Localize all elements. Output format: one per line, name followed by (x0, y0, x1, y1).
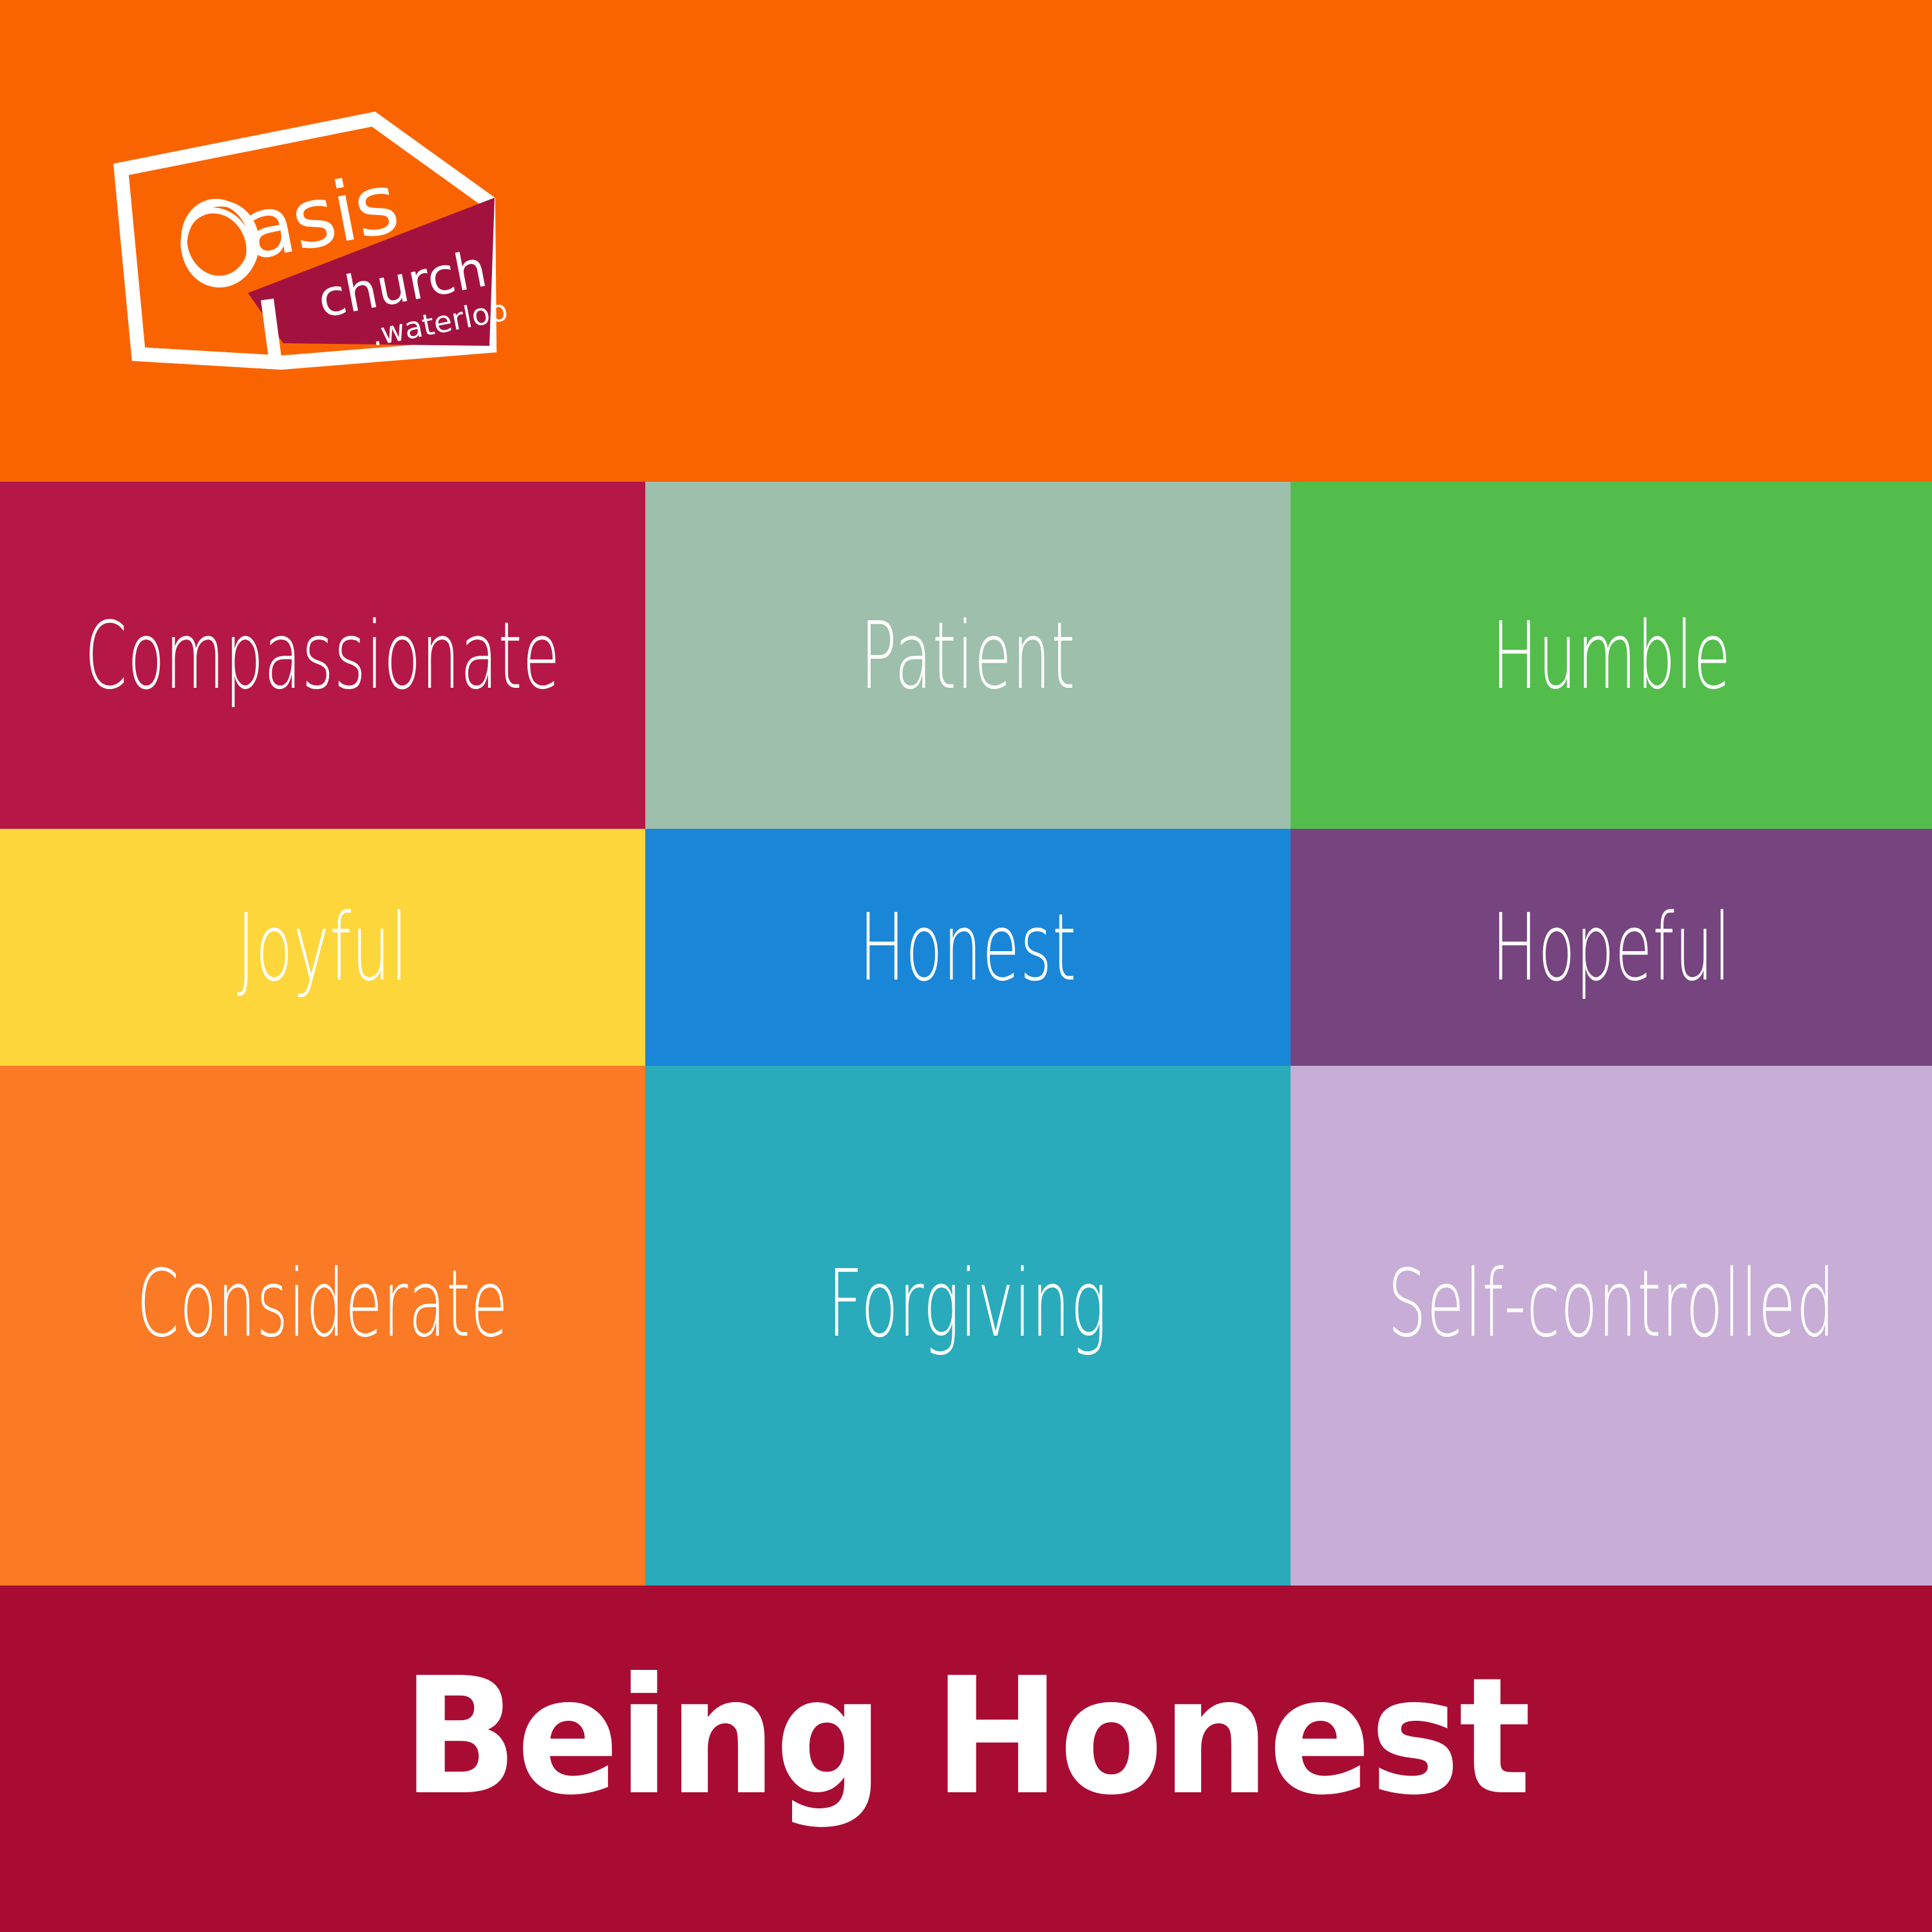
grid-cell-label: Patient (860, 609, 1075, 702)
grid-cell-joyful[interactable]: Joyful (0, 829, 645, 1066)
grid-cell-label: Hopeful (1492, 901, 1731, 994)
grid-cell-label: Self-controlled (1388, 1257, 1835, 1350)
grid-cell-considerate[interactable]: Considerate (0, 1066, 645, 1586)
grid-cell-label: Forgiving (828, 1257, 1108, 1350)
grid-cell-humble[interactable]: Humble (1291, 482, 1932, 829)
grid-cell-patient[interactable]: Patient (645, 482, 1291, 829)
grid-cell-hopeful[interactable]: Hopeful (1291, 829, 1932, 1066)
oasis-church-waterloo-logo[interactable]: asis church .waterloo (103, 106, 528, 396)
title-banner: Being Honest (0, 1586, 1932, 1932)
grid-cell-label: Humble (1492, 609, 1731, 702)
grid-cell-label: Compassionate (85, 609, 561, 702)
page-title: Being Honest (402, 1656, 1530, 1817)
attribute-grid: Compassionate Patient Humble Joyful Hone… (0, 482, 1932, 1586)
grid-cell-label: Honest (859, 901, 1077, 994)
poster-canvas: asis church .waterloo Compassionate Pati… (0, 0, 1932, 1932)
grid-cell-label: Considerate (137, 1257, 508, 1350)
grid-cell-label: Joyful (237, 901, 408, 994)
grid-cell-compassionate[interactable]: Compassionate (0, 482, 645, 829)
grid-cell-honest[interactable]: Honest (645, 829, 1291, 1066)
grid-cell-self-controlled[interactable]: Self-controlled (1291, 1066, 1932, 1586)
grid-cell-forgiving[interactable]: Forgiving (645, 1066, 1291, 1586)
